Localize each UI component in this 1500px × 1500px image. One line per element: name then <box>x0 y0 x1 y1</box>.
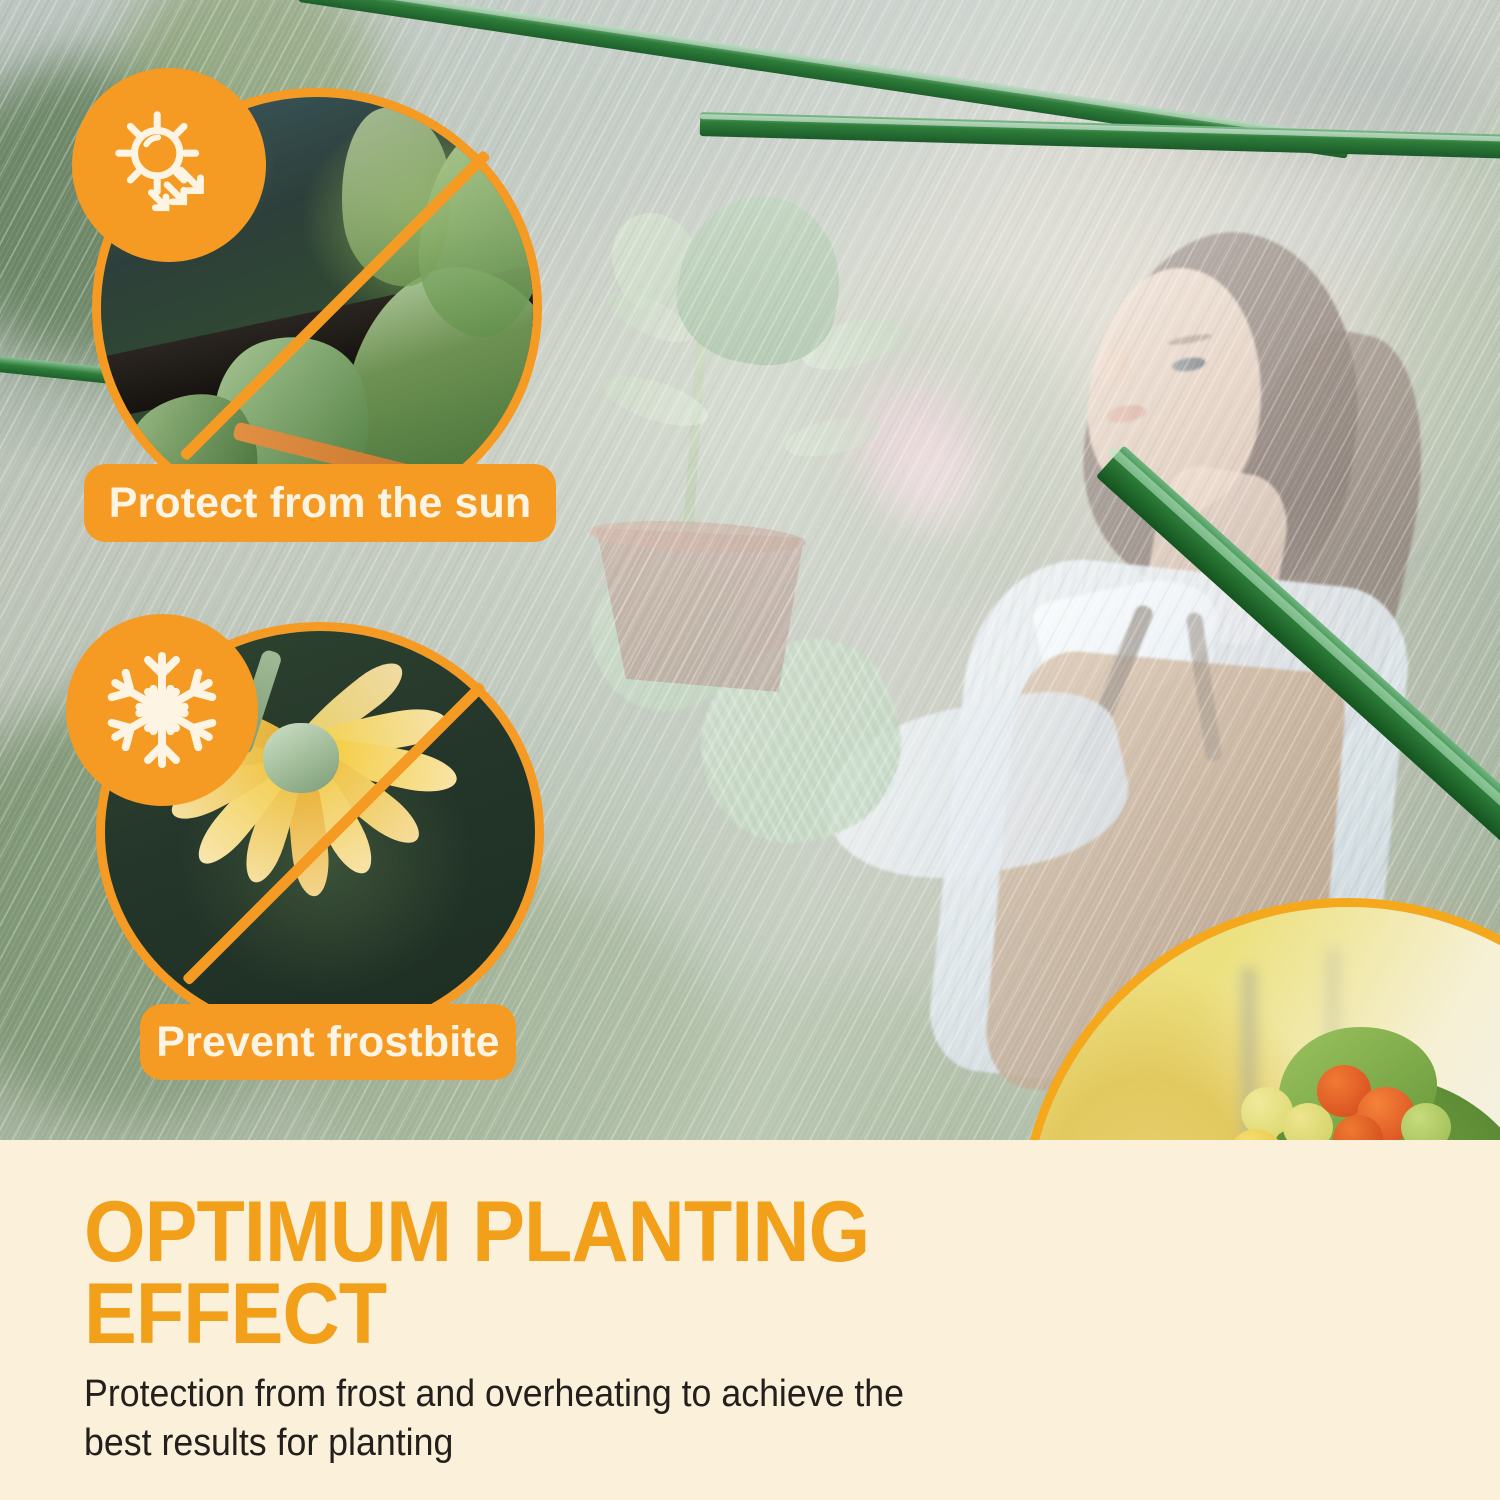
sun-with-down-arrows-icon <box>106 102 232 228</box>
snowflake-icon-badge <box>66 614 258 806</box>
infographic-canvas: Protect from the sun <box>0 0 1500 1500</box>
sun-icon-badge <box>72 68 266 262</box>
page-title-line-2: EFFECT <box>84 1274 912 1356</box>
callout-sun-label: Protect from the sun <box>109 479 532 528</box>
page-subtitle: Protection from frost and overheating to… <box>84 1370 911 1467</box>
callout-sun-label-pill[interactable]: Protect from the sun <box>84 464 556 542</box>
callout-frost-label: Prevent frostbite <box>156 1018 499 1067</box>
callout-frost-label-pill[interactable]: Prevent frostbite <box>140 1004 516 1080</box>
flower-center <box>263 723 339 793</box>
page-title: OPTIMUM PLANTING EFFECT <box>84 1192 912 1355</box>
snowflake-icon <box>98 646 226 774</box>
page-title-line-1: OPTIMUM PLANTING <box>84 1192 912 1274</box>
